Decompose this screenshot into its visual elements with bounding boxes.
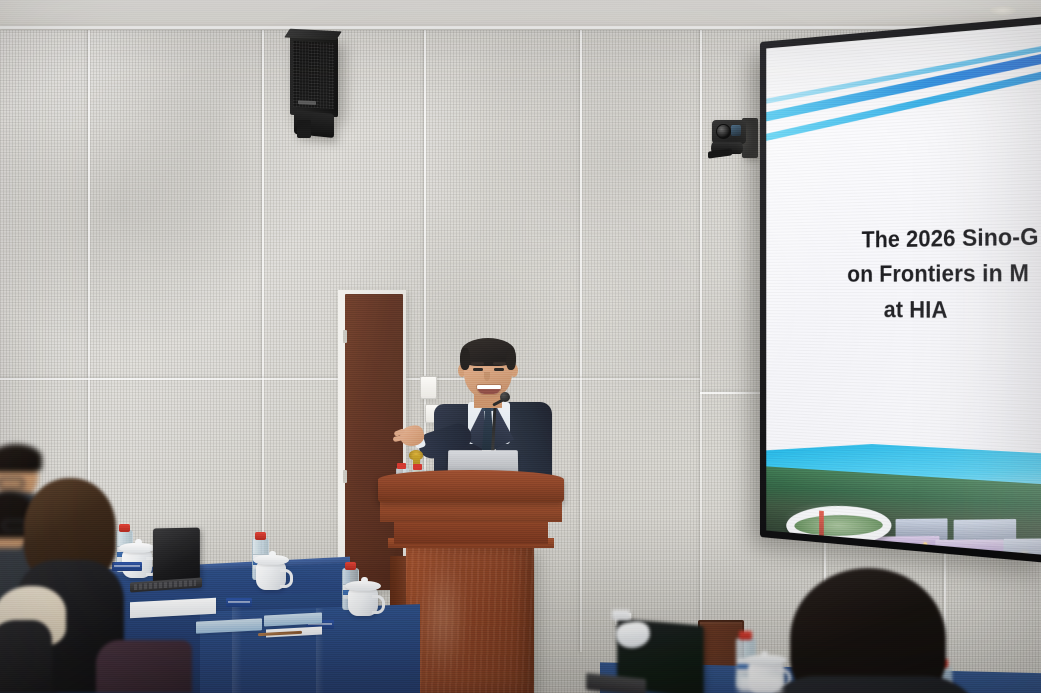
presenter-smile (476, 384, 502, 395)
presentation-display[interactable]: The 2026 Sino-G on Frontiers in M at HIA (760, 15, 1041, 563)
lectern-top (378, 470, 564, 502)
slide-title-line-2: on Frontiers in M (775, 254, 1041, 292)
podium-laptop[interactable] (448, 450, 518, 472)
wall-panel-seam (700, 26, 702, 666)
display-panel: The 2026 Sino-G on Frontiers in M at HIA (766, 24, 1041, 555)
bottle-cap (397, 463, 406, 469)
camera-lens-icon (716, 124, 731, 139)
teacup (256, 562, 286, 590)
table-cloth-fold (232, 600, 242, 693)
microphone-capsule-icon (500, 392, 510, 402)
lamp-clip (612, 610, 630, 620)
slide-title-line-3: at HIA (766, 292, 1041, 330)
bottle-cap (119, 524, 130, 532)
document-paper (738, 675, 782, 693)
eyeglasses (0, 478, 24, 489)
ceiling-edge (0, 26, 1041, 29)
screenshot-root: The 2026 Sino-G on Frontiers in M at HIA (0, 0, 1041, 693)
ceiling-downlight (990, 6, 1016, 15)
slide-title-line-1: The 2026 Sino-G (797, 217, 1041, 258)
door-hinge (343, 330, 347, 343)
teacup (348, 588, 378, 616)
pen-box (112, 562, 142, 571)
pen-box (226, 598, 252, 607)
wall-panel-seam (580, 22, 582, 652)
slide-title: The 2026 Sino-G on Frontiers in M at HIA (797, 217, 1041, 330)
title-slide: The 2026 Sino-G on Frontiers in M at HIA (766, 24, 1041, 555)
bottle-cap (345, 562, 356, 570)
door-hinge (343, 470, 347, 483)
attendee-lap (96, 640, 192, 693)
bottle-cap (739, 631, 752, 640)
bottle-cap (255, 532, 266, 540)
